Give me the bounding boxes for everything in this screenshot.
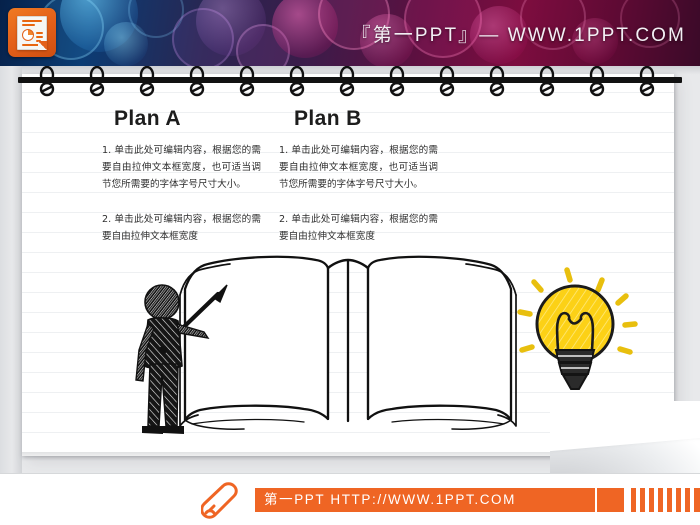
open-book-illustration <box>180 257 516 429</box>
binding-ring <box>36 66 58 98</box>
binding-ring <box>386 66 408 98</box>
plan-b-bullet-2: 2. 单击此处可编辑内容，根据您的需要自由拉伸文本框宽度 <box>279 211 438 245</box>
plan-a-title: Plan A <box>114 107 181 131</box>
page-curl-corner <box>550 401 700 479</box>
spiral-binding <box>0 66 700 100</box>
binding-ring <box>436 66 458 98</box>
binding-ring <box>536 66 558 98</box>
pencil-icon <box>201 482 241 520</box>
header-banner: 『第一PPT』— WWW.1PPT.COM <box>0 0 700 66</box>
binding-ring <box>636 66 658 98</box>
paper-left-edge <box>0 66 22 517</box>
slide-canvas: 『第一PPT』— WWW.1PPT.COM <box>0 0 700 525</box>
footer-url-text: 第一PPT HTTP://WWW.1PPT.COM <box>255 488 595 512</box>
plan-a-bullet-2: 2. 单击此处可编辑内容，根据您的需要自由拉伸文本框宽度 <box>102 211 261 245</box>
bokeh-circle <box>60 0 138 52</box>
bokeh-circle <box>272 0 338 58</box>
bokeh-circle <box>236 24 290 66</box>
lightbulb-illustration <box>520 270 635 389</box>
binding-ring <box>136 66 158 98</box>
slide-illustration-layer: Plan A 1. 单击此处可编辑内容，根据您的需要自由拉伸文本框宽度，也可适当… <box>22 74 674 456</box>
bokeh-circle <box>104 22 148 66</box>
plan-a-bullet-1: 1. 单击此处可编辑内容，根据您的需要自由拉伸文本框宽度，也可适当调节您所需要的… <box>102 142 261 193</box>
binding-ring <box>336 66 358 98</box>
footer-url-band[interactable]: 第一PPT HTTP://WWW.1PPT.COM <box>255 488 595 512</box>
plan-b-bullet-1: 1. 单击此处可编辑内容，根据您的需要自由拉伸文本框宽度，也可适当调节您所需要的… <box>279 142 438 193</box>
bokeh-circle <box>172 8 234 66</box>
binding-ring <box>236 66 258 98</box>
binding-ring <box>86 66 108 98</box>
footer-bar: 第一PPT HTTP://WWW.1PPT.COM <box>0 474 700 525</box>
powerpoint-icon-document <box>17 16 47 50</box>
binding-ring <box>586 66 608 98</box>
binding-ring <box>286 66 308 98</box>
bokeh-circle <box>196 0 266 56</box>
powerpoint-icon[interactable] <box>8 8 56 57</box>
footer-barcode-bars <box>597 488 700 512</box>
header-title: 『第一PPT』— WWW.1PPT.COM <box>352 20 686 47</box>
binding-ring <box>186 66 208 98</box>
bokeh-circle <box>128 0 184 38</box>
plan-b-title: Plan B <box>294 107 362 131</box>
pie-chart-icon <box>22 29 34 41</box>
binding-ring <box>486 66 508 98</box>
